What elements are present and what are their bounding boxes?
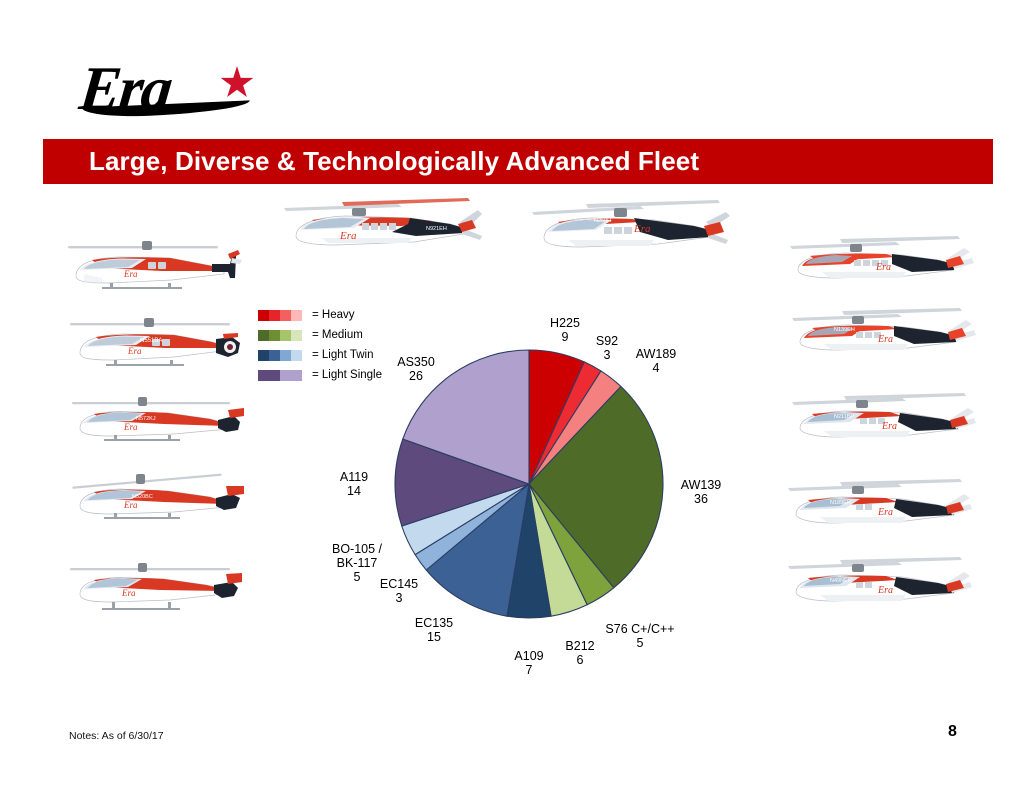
pie-slice-label: H2259 [550,316,580,344]
pie-slice-value: 36 [681,492,722,506]
pie-slice-value: 6 [565,653,594,667]
pie-slice-value: 15 [415,630,453,644]
pie-slice-label: S923 [596,334,618,362]
aircraft-photo-h225: Era N260H [528,192,740,274]
star-icon [220,66,254,100]
legend-shade [291,310,302,321]
pie-slice-label: AW13936 [681,478,722,506]
legend-label-medium: = Medium [312,329,363,341]
aircraft-photo-b212: Era N189EH [786,474,976,544]
pie-slice-value: 4 [636,361,677,375]
legend-shade [291,330,302,341]
pie-slice-label: AS35026 [397,355,435,383]
pie-slice-label: AW1894 [636,347,677,375]
pie-svg [394,349,664,619]
svg-text:Era: Era [877,334,893,345]
svg-text:Era: Era [123,422,138,432]
aircraft-photo-ec135: Era N551BA [66,315,246,379]
legend-shade [280,350,291,361]
pie-slice-label: B2126 [565,639,594,667]
pie-slice-name: B212 [565,639,594,653]
pie-slice-name: AW189 [636,347,677,361]
svg-text:Era: Era [339,230,357,242]
pie-slice-label: EC13515 [415,616,453,644]
aircraft-photo-a109: Era N572KJ [68,392,248,456]
legend-shade [280,330,291,341]
pie-slice-value: 26 [397,369,435,383]
svg-text:N551BA: N551BA [140,338,162,344]
legend-shade [291,350,302,361]
legend-shade [258,350,269,361]
pie-slice-name: H225 [550,316,580,330]
legend-swatch-light-single [258,370,302,381]
pie-slice-value: 3 [596,348,618,362]
legend-shade [258,370,280,381]
svg-text:Era: Era [123,269,138,279]
svg-text:N139EH: N139EH [834,327,855,333]
legend-shade [269,350,280,361]
aircraft-photo-s76: Era N211BP [790,388,980,458]
pie-slice-label: A11914 [340,470,368,498]
legend-shade [269,310,280,321]
aircraft-photo-as350: Era [66,558,246,626]
pie-slice-label: A1097 [514,649,543,677]
svg-text:Era: Era [121,588,136,598]
pie-slice-label: S76 C+/C++5 [605,622,674,650]
legend-item-medium: = Medium [258,326,382,344]
aircraft-photo-ec145: Era [62,238,242,302]
pie-slice-value: 5 [605,636,674,650]
fleet-pie-chart [394,349,664,619]
svg-text:Era: Era [875,262,891,273]
legend-label-heavy: = Heavy [312,309,355,321]
legend-shade [280,370,302,381]
legend-shade [280,310,291,321]
svg-text:Era: Era [127,346,142,356]
pie-slice-value: 3 [380,591,418,605]
pie-slice-name: EC145 [380,577,418,591]
svg-text:N189EH: N189EH [830,500,851,506]
page-number: 8 [948,723,957,741]
aircraft-photo-aw189: Era [788,230,978,300]
pie-slice-value: 5 [332,570,382,584]
aircraft-photo-aw139: Era N139EH [790,302,980,372]
legend-swatch-medium [258,330,302,341]
pie-slice-value: 7 [514,663,543,677]
pie-slice-name: S92 [596,334,618,348]
legend-label-light-twin: = Light Twin [312,349,373,361]
svg-text:Era: Era [877,507,893,518]
aircraft-photo-a119: Era N520BC [68,468,248,534]
aircraft-photo-s92: Era N921EH [282,192,494,274]
svg-text:N520BC: N520BC [132,494,153,500]
pie-slice-name: AS350 [397,355,435,369]
legend-swatch-light-twin [258,350,302,361]
svg-text:Era: Era [633,223,651,235]
legend-swatch-heavy [258,310,302,321]
footnote: Notes: As of 6/30/17 [69,730,164,742]
legend-item-light-single: = Light Single [258,366,382,384]
svg-text:N211BP: N211BP [834,414,854,420]
pie-slice-label: EC1453 [380,577,418,605]
pie-slice-name: BO-105 /BK-117 [332,542,382,570]
svg-text:N49NEH: N49NEH [830,578,852,584]
legend-shade [258,330,269,341]
legend-item-heavy: = Heavy [258,306,382,324]
slide-title-banner: Large, Diverse & Technologically Advance… [43,139,993,184]
pie-slice-value: 9 [550,330,580,344]
legend-label-light-single: = Light Single [312,369,382,381]
era-logo: Era [80,60,280,120]
pie-slice-label: BO-105 /BK-1175 [332,542,382,584]
svg-text:Era: Era [123,500,138,510]
legend-item-light-twin: = Light Twin [258,346,382,364]
legend-shade [269,330,280,341]
page-title: Large, Diverse & Technologically Advance… [43,146,699,177]
svg-text:Era: Era [881,421,897,432]
svg-text:N572KJ: N572KJ [136,416,156,422]
aircraft-photo-bo105: Era N49NEH [786,552,976,622]
legend-shade [258,310,269,321]
pie-slice-name: A119 [340,470,368,484]
pie-slice-name: AW139 [681,478,722,492]
pie-slice-name: EC135 [415,616,453,630]
chart-legend: = Heavy = Medium = Light Twin = Light Si… [258,306,382,386]
svg-text:N260H: N260H [594,218,611,224]
svg-text:Era: Era [877,585,893,596]
svg-text:N921EH: N921EH [426,226,447,232]
pie-slice-name: S76 C+/C++ [605,622,674,636]
pie-slice-name: A109 [514,649,543,663]
pie-slice-value: 14 [340,484,368,498]
